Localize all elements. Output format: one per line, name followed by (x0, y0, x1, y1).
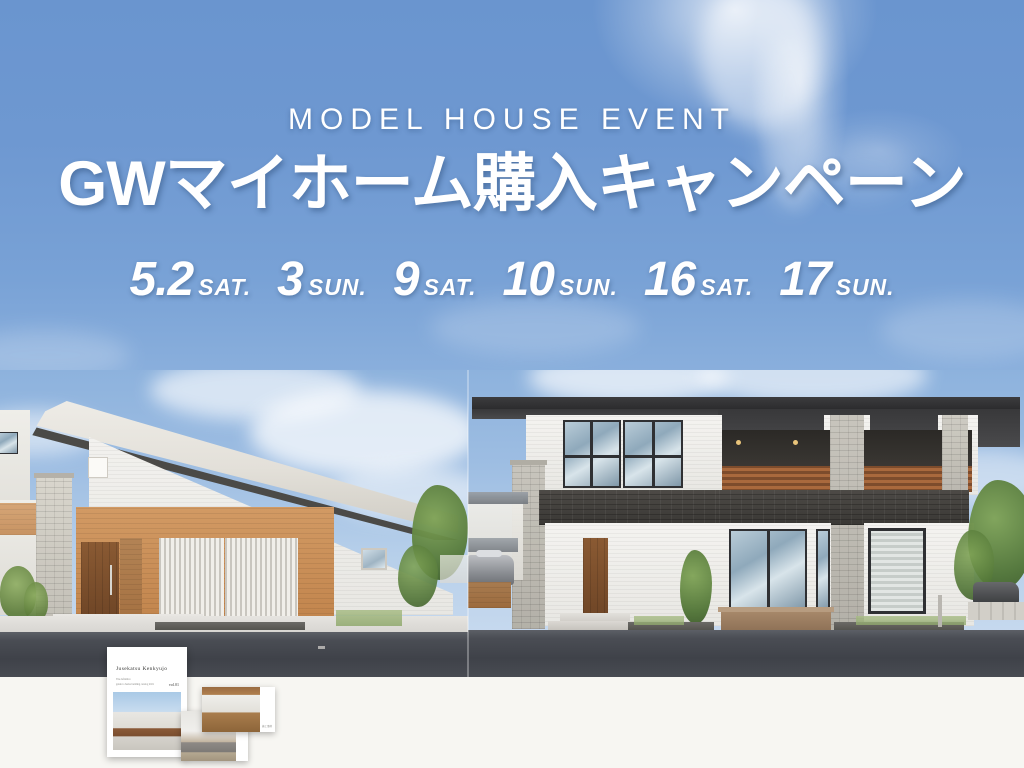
slat-screen (225, 538, 298, 623)
asphalt-road (0, 632, 468, 677)
catalog-cover-title: Jusekatsu Kenkyujo (116, 666, 167, 672)
window-mullion (767, 529, 770, 611)
parked-car (973, 582, 1019, 604)
offer-bar: Jusekatsu Kenkyujo The definitive guide … (0, 677, 1024, 768)
bollard-light (938, 595, 942, 627)
window-mullion (652, 420, 655, 488)
offer-bar-inner: Jusekatsu Kenkyujo The definitive guide … (0, 677, 1024, 768)
flat-roof (472, 397, 1020, 409)
catalog-cover-photo (113, 692, 181, 750)
balcony-light (793, 440, 798, 445)
lawn-trim (856, 616, 966, 625)
window-mullion (590, 420, 593, 488)
road-marking (318, 646, 325, 649)
side-window (361, 548, 387, 570)
dark-stone-band (539, 490, 719, 525)
photo-divider (467, 370, 469, 677)
brick-pilaster (120, 538, 142, 620)
parked-car (468, 555, 514, 585)
catalog-spread-living: 施工事例 (202, 687, 275, 732)
campaign-banner: MODEL HOUSE EVENT GWマイホーム購入キャンペーン 5.2SAT… (0, 0, 1024, 768)
stone-column-cap (510, 460, 547, 465)
catalog-spread-caption: 施工事例 (262, 724, 272, 728)
far-building (440, 555, 468, 583)
entry-sidelight (816, 529, 830, 611)
lawn (336, 610, 402, 626)
front-door (583, 538, 608, 620)
model-house-photo-right (468, 370, 1024, 677)
catalog-cover-subtitle: The definitive guide to home building ca… (116, 678, 154, 688)
cloud-wisp (760, 40, 820, 210)
lawn-trim (634, 616, 684, 625)
gravel-border (155, 622, 305, 630)
balcony-light (736, 440, 741, 445)
catalog-volume-number: vol.01 (169, 682, 179, 687)
dark-stone-band (719, 490, 969, 525)
neighbor-fence (468, 582, 511, 608)
shrub (24, 582, 48, 620)
stone-column (942, 415, 968, 497)
cloud-wisp (700, 0, 820, 130)
blind-window (868, 528, 926, 614)
house-photo-strip (0, 370, 1024, 677)
asphalt-road (468, 630, 1024, 677)
cloud-wisp (880, 300, 1024, 360)
wall-fence-right (968, 602, 1024, 620)
model-house-photo-left (0, 370, 468, 677)
cloud (250, 390, 468, 475)
upper-vent (88, 457, 108, 478)
catalog-spread-photo (202, 687, 260, 732)
entry-platform-top (718, 607, 834, 612)
door-handle (110, 565, 112, 595)
neighbor-window (0, 432, 18, 454)
car-roofbox (476, 550, 502, 557)
slat-screen (159, 538, 224, 623)
neighbor-wood-panel (0, 503, 38, 535)
catalog-cover: Jusekatsu Kenkyujo The definitive guide … (107, 647, 187, 757)
neighbor-roof (468, 492, 528, 504)
cloud-wisp (820, 140, 910, 200)
pillar-cap (34, 473, 74, 478)
cloud-wisp (430, 300, 640, 355)
porch-step (548, 621, 638, 630)
sky-background (0, 0, 1024, 400)
front-door (81, 542, 119, 620)
entry-platform (721, 610, 831, 632)
